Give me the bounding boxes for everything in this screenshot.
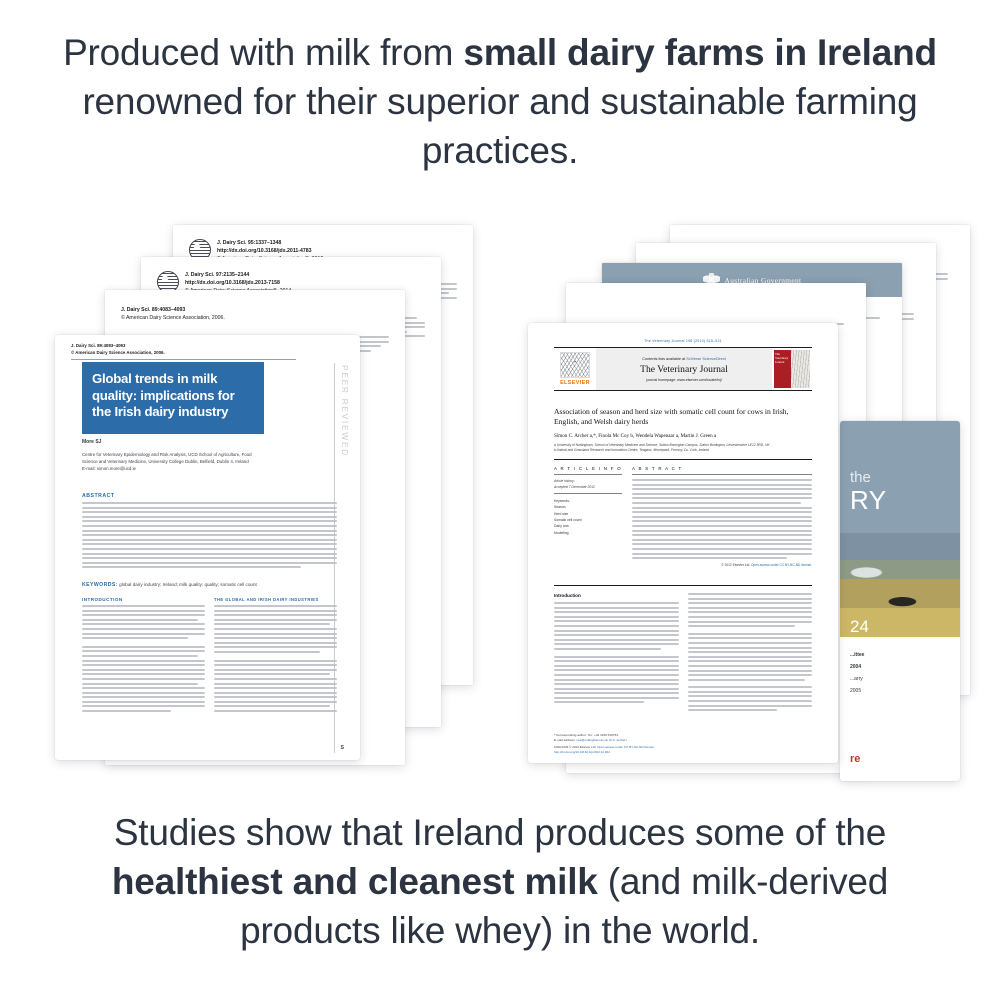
article-affiliations: a University of Nottingham, School of Ve… [554, 443, 812, 454]
copyright-license-link[interactable]: Open access under CC BY-NC-ND license. [751, 563, 812, 567]
elsevier-tree-icon [560, 352, 590, 378]
cover-year: 24 [850, 617, 869, 637]
citation-line1: J. Dairy Sci. 95:1337–1348 [217, 239, 325, 247]
affiliation-text: Centre for Veterinary Epidemiology and R… [82, 452, 252, 464]
running-head: The Veterinary Journal 196 (2013) 515–52… [528, 339, 838, 343]
elsevier-logo: ELSEVIER [554, 348, 596, 390]
citation-line2: http://dx.doi.org/10.3168/jds.2013-7158 [185, 279, 293, 287]
email-address-label: E-mail address: [554, 738, 576, 742]
article-body: Introduction [554, 593, 812, 714]
column-introduction: INTRODUCTION [82, 597, 205, 715]
citation-line2: http://dx.doi.org/10.3168/jds.2011-4783 [217, 247, 325, 255]
top-headline-part1: Produced with milk from [63, 32, 463, 73]
section-heading-introduction: INTRODUCTION [82, 597, 205, 602]
cover-meta-line4: 2005 [850, 685, 950, 697]
journal-homepage[interactable]: journal homepage: www.elsevier.com/locat… [646, 378, 721, 382]
citation-line2: © American Dairy Science Association, 20… [121, 314, 225, 322]
issn-text: 1090-0233 © 2012 Elsevier Ltd. [554, 745, 597, 749]
right-paper-stack: A study of the somatic cell count (SCC) … [510, 225, 990, 745]
bottom-headline-bold: healthiest and cleanest milk [112, 861, 598, 902]
cover-art [791, 350, 810, 388]
cover-meta-line3: ...arry [850, 673, 950, 685]
title-banner: Global trends in milk quality: implicati… [82, 362, 264, 434]
left-paper-stack: J. Dairy Sci. 95:1337–1348 http://dx.doi… [55, 225, 515, 745]
cover-title-small: the [850, 469, 871, 486]
abstract-divider [632, 474, 812, 475]
keywords-text: global dairy industry; Ireland; milk qua… [118, 582, 257, 587]
keywords-heading: KEYWORDS: [82, 582, 118, 588]
promo-page: Produced with milk from small dairy farm… [0, 0, 1000, 1000]
article-info-panel: A R T I C L E I N F O Article history: A… [554, 466, 622, 536]
bottom-headline: Studies show that Ireland produces some … [50, 808, 950, 956]
info-divider-mid [554, 493, 622, 494]
info-divider-top [554, 474, 622, 475]
doi-line: http://dx.doi.org/10.1016/j.tvjl.2012.12… [554, 750, 724, 755]
document-global-trends-milk-quality[interactable]: J. Dairy Sci. 89:4083–4093 © American Da… [55, 335, 360, 760]
corresponding-email-link[interactable]: sca@nottingham.ac.uk (S.C. Archer). [576, 738, 627, 742]
cover-meta-line1: ...ittee [850, 649, 950, 661]
corresponding-author-footnote: * Corresponding author. Tel.: +44 1159 5… [554, 733, 674, 744]
body-column-right [688, 593, 813, 714]
keywords-section: KEYWORDS: global dairy industry; Ireland… [82, 573, 332, 591]
issn-footer: 1090-0233 © 2012 Elsevier Ltd. Open acce… [554, 745, 724, 755]
peer-reviewed-label: PEER REVIEWED [340, 365, 350, 457]
keyword-item: Modelling [554, 530, 622, 536]
body-column-left: Introduction [554, 593, 679, 714]
cover-meta: ...ittee 2004 ...arry 2005 [850, 649, 950, 697]
article-authors: Simon C. Archer a,*, Finola Mc Coy b, We… [554, 433, 812, 439]
paper-author: More SJ [82, 439, 101, 445]
citation-block: J. Dairy Sci. 89:4083–4093 © American Da… [121, 306, 225, 322]
top-headline-bold: small dairy farms in Ireland [463, 32, 937, 73]
page-number: S [341, 745, 344, 751]
cover-title-large: RY [850, 485, 887, 516]
journal-cover-thumbnail: The Veterinary Journal [772, 348, 812, 390]
front-citation: J. Dairy Sci. 89:4083–4093 © American Da… [71, 343, 165, 356]
abstract-heading: A B S T R A C T [632, 466, 812, 471]
issn-license-link[interactable]: Open access under CC BY-NC-ND license. [597, 745, 654, 749]
author-email: E-mail: simon.more@ucd.ie [82, 466, 136, 471]
cover-spine: The Veterinary Journal [774, 350, 791, 388]
cover-brand: re [850, 753, 860, 765]
top-headline-part2: renowned for their superior and sustaina… [82, 81, 917, 171]
citation-line1: J. Dairy Sci. 97:2135–2144 [185, 271, 293, 279]
two-column-body: INTRODUCTION THE GLOBAL A [82, 597, 337, 715]
abstract-section: ABSTRACT [82, 493, 337, 571]
paper-affiliation: Centre for Veterinary Epidemiology and R… [82, 451, 257, 472]
doi-link[interactable]: http://dx.doi.org/10.1016/j.tvjl.2012.12… [554, 750, 610, 754]
affiliation-b: b Animal and Grassland Research and Inno… [554, 448, 812, 453]
corresponding-email-line: E-mail address: sca@nottingham.ac.uk (S.… [554, 738, 674, 743]
top-headline: Produced with milk from small dairy farm… [50, 28, 950, 176]
article-keywords: Keywords: Season Herd size Somatic cell … [554, 498, 622, 536]
peer-reviewed-badge: PEER REVIEWED [339, 365, 351, 485]
introduction-heading: Introduction [554, 593, 679, 598]
cover-meta-line2: 2004 [850, 661, 950, 673]
article-info-heading: A R T I C L E I N F O [554, 466, 622, 471]
paper-title: Global trends in milk quality: implicati… [92, 371, 254, 421]
citation-line1: J. Dairy Sci. 89:4083–4093 [121, 306, 225, 314]
body-divider [554, 585, 812, 586]
elsevier-wordmark: ELSEVIER [560, 380, 590, 386]
journal-title: The Veterinary Journal [640, 364, 728, 375]
cover-spine-label: The Veterinary Journal [774, 350, 791, 368]
article-history-value: Accepted 7 December 2012 [554, 485, 622, 491]
journal-masthead: ELSEVIER Contents lists available at Sci… [554, 347, 812, 391]
contents-available-line: Contents lists available at SciVerse Sci… [642, 357, 726, 361]
abstract-heading: ABSTRACT [82, 493, 337, 499]
abstract-copyright: © 2012 Elsevier Ltd. Open access under C… [632, 563, 812, 567]
document-veterinary-journal[interactable]: The Veterinary Journal 196 (2013) 515–52… [528, 323, 838, 763]
sciencedirect-link[interactable]: SciVerse ScienceDirect [686, 357, 725, 361]
section-heading-industries: THE GLOBAL AND IRISH DAIRY INDUSTRIES [214, 597, 337, 602]
document-report-cover[interactable]: the RY 24 ...ittee 2004 ...arry 2005 re [840, 421, 960, 781]
front-citation-line2: © American Dairy Science Association, 20… [71, 350, 165, 357]
masthead-divider [554, 459, 812, 460]
column-industries: THE GLOBAL AND IRISH DAIRY INDUSTRIES [214, 597, 337, 715]
masthead-center: Contents lists available at SciVerse Sci… [596, 348, 772, 390]
article-history: Article history: Accepted 7 December 201… [554, 479, 622, 490]
bottom-headline-part1: Studies show that Ireland produces some … [114, 812, 886, 853]
header-divider [71, 359, 296, 360]
article-title: Association of season and herd size with… [554, 407, 812, 428]
front-citation-line1: J. Dairy Sci. 89:4083–4093 [71, 343, 165, 350]
contents-available-text: Contents lists available at [642, 357, 686, 361]
abstract-panel: A B S T R A C T © 2012 Elsevier Ltd. Ope… [632, 466, 812, 567]
copyright-text: © 2012 Elsevier Ltd. [721, 563, 751, 567]
